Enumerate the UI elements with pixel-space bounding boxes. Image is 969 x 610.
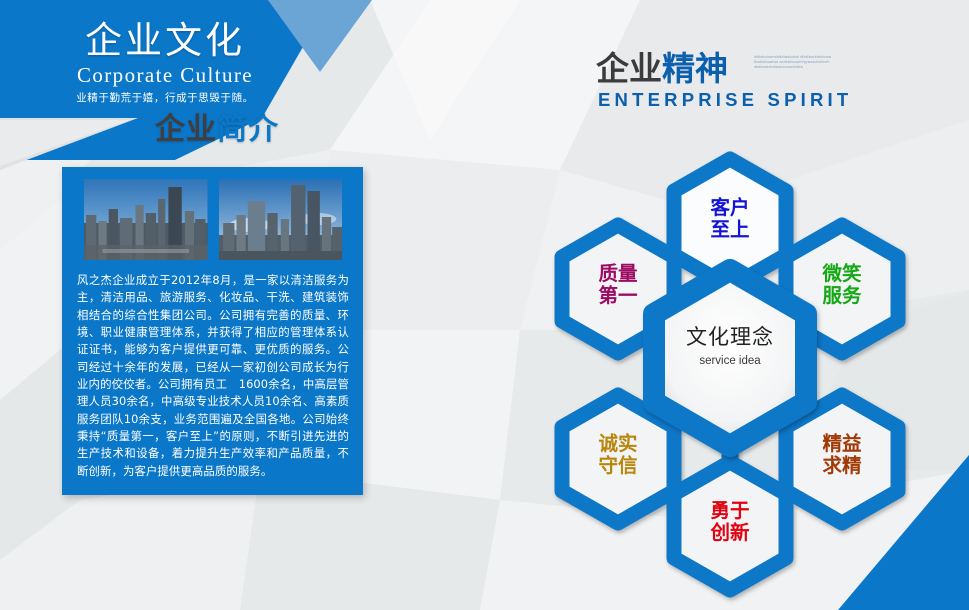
enterprise-spirit-heading: 企业精神 ENTERPRISE SPIRIT dfdkdnsiowhdidkdl…: [596, 52, 852, 110]
company-profile-text: 风之杰企业成立于2012年8月，是一家以清洁服务为主，清洁用品、旅游服务、化妆品…: [77, 272, 349, 480]
banner-cn-title: 企业文化: [0, 22, 330, 59]
city-photo-1-image: [84, 179, 208, 260]
culture-hex-diagram: 客户 至上 质量 第一 微笑 服务 诚实 守信 精益 求精 勇于 创新 文化理念…: [490, 112, 969, 610]
photo-strip: [84, 179, 342, 260]
intro-heading-dark: 企业: [155, 112, 217, 147]
intro-heading-blue: 简介: [217, 112, 279, 147]
city-photo-2-image: [219, 179, 343, 260]
spirit-cn-dark: 企业: [596, 49, 662, 88]
city-photo-1: [84, 179, 208, 260]
spirit-filler-text: dfdkdnsiowhdidkdlwoisuhdi dfkdfsiorbfduh…: [754, 55, 832, 70]
spirit-en-title: ENTERPRISE SPIRIT: [598, 91, 852, 110]
spirit-cn-blue: 精神: [662, 49, 728, 88]
hex-diagram-svg: [490, 112, 969, 610]
hex-center: [654, 270, 806, 446]
hex-innovation: [674, 462, 786, 590]
banner-motto: 业精于勤荒于嬉，行成于思毁于随。: [0, 93, 330, 104]
company-intro-heading: 企业简介: [155, 115, 279, 145]
banner-en-title: Corporate Culture: [0, 65, 330, 86]
slide-canvas: 企业文化 Corporate Culture 业精于勤荒于嬉，行成于思毁于随。 …: [0, 0, 969, 610]
company-profile-card: 风之杰企业成立于2012年8月，是一家以清洁服务为主，清洁用品、旅游服务、化妆品…: [62, 167, 363, 495]
city-photo-2: [219, 179, 343, 260]
